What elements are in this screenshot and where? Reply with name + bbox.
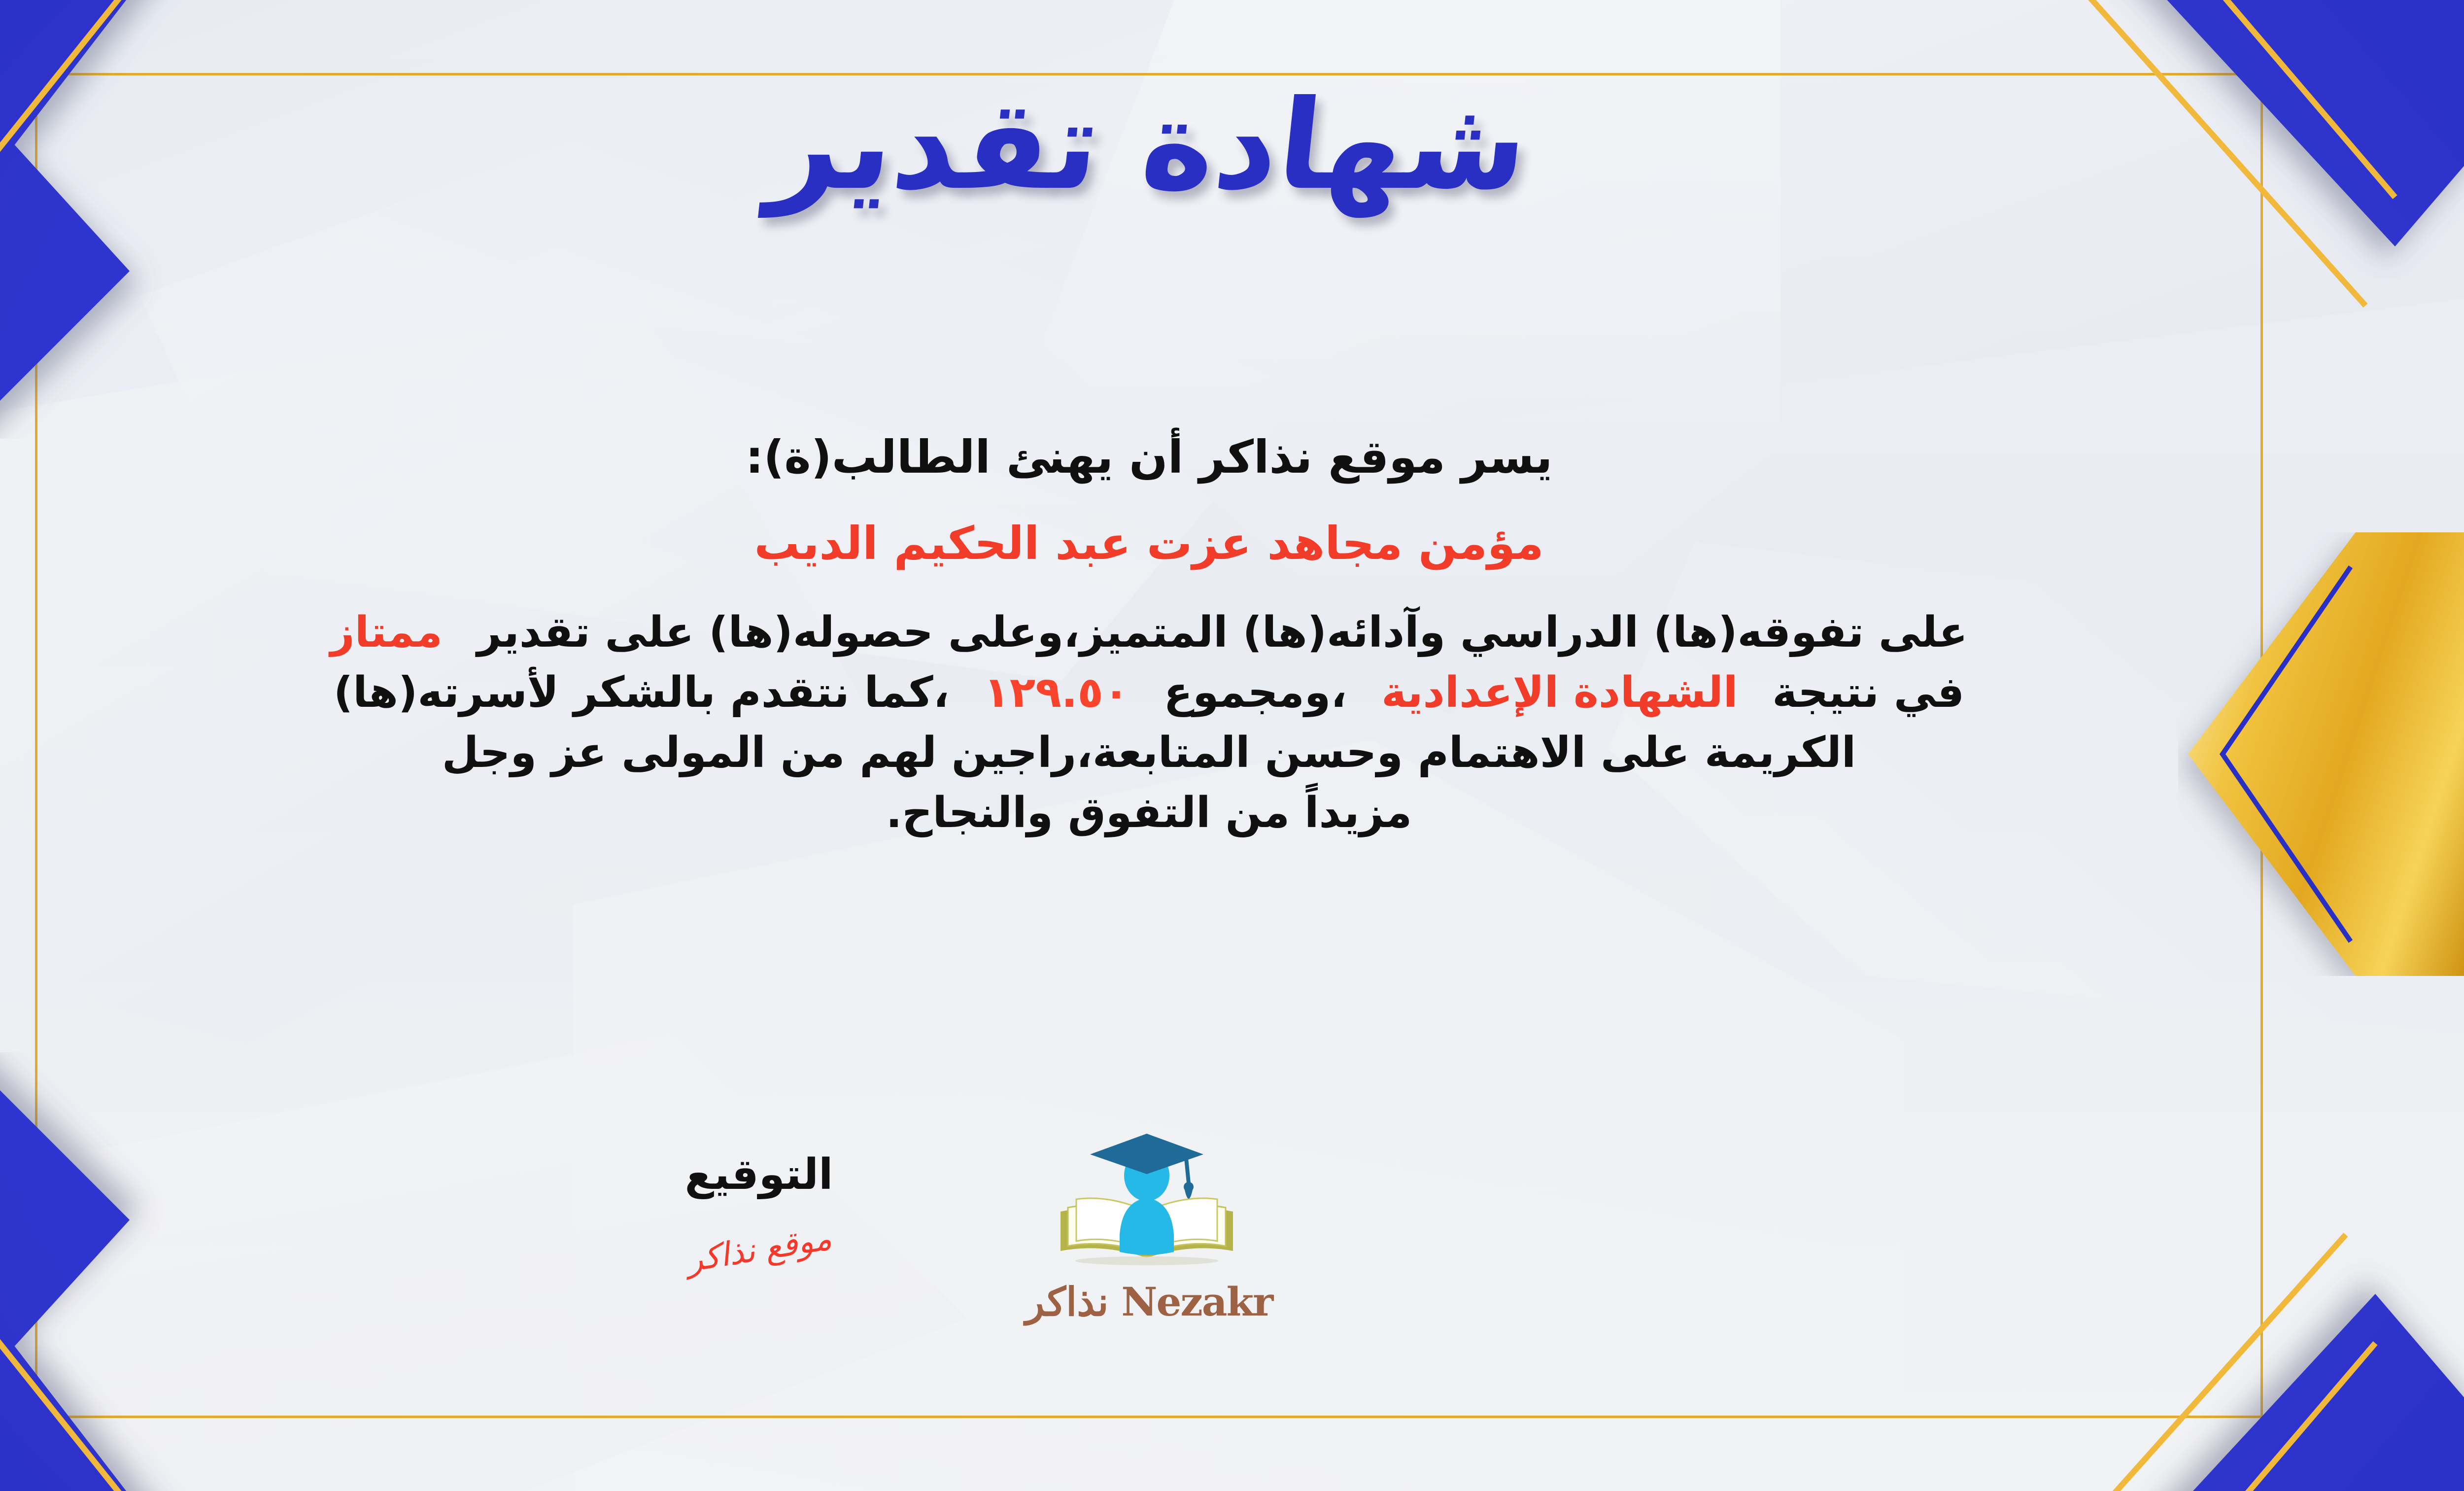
achievement-line-3: الكريمة على الاهتمام وحسن المتابعة،راجين… [41, 723, 2257, 783]
total-prefix: ،ومجموع [1164, 668, 1347, 717]
certificate-title: شهادة تقدير [0, 84, 2464, 207]
student-name: مؤمن مجاهد عزت عبد الحكيم الديب [41, 515, 2257, 572]
thanks-text: ،كما نتقدم بالشكر لأسرته(ها) [334, 668, 949, 717]
signature-label: التوقيع [606, 1153, 912, 1196]
achievement-line-2: في نتيجةالشهادة الإعدادية،ومجموع١٢٩.٥٠،ك… [41, 662, 2257, 723]
certificate-body: يسر موقع نذاكر أن يهنئ الطالب(ة): مؤمن م… [41, 429, 2257, 843]
nezakr-logo: Nezakr نذاكر [996, 1129, 1302, 1325]
achievement-text-1: على تفوقه(ها) الدراسي وآدائه(ها) المتميز… [477, 608, 1968, 657]
greeting-line: يسر موقع نذاكر أن يهنئ الطالب(ة): [41, 429, 2257, 485]
certificate-content: شهادة تقدير يسر موقع نذاكر أن يهنئ الطال… [0, 0, 2464, 1491]
graduate-book-icon [1046, 1129, 1253, 1277]
signature-block: التوقيع موقع نذاكر [606, 1153, 912, 1268]
signature-mark: موقع نذاكر [684, 1219, 834, 1279]
certificate-page: شهادة تقدير يسر موقع نذاكر أن يهنئ الطال… [0, 0, 2464, 1491]
logo-wordmark: Nezakr نذاكر [996, 1279, 1302, 1325]
exam-name: الشهادة الإعدادية [1381, 668, 1738, 717]
result-prefix: في نتيجة [1772, 668, 1964, 717]
achievement-line-1: على تفوقه(ها) الدراسي وآدائه(ها) المتميز… [41, 602, 2257, 662]
grade-value: ممتاز [330, 608, 443, 657]
achievement-line-4: مزيداً من التفوق والنجاح. [41, 783, 2257, 843]
score-value: ١٢٩.٥٠ [984, 668, 1129, 717]
certificate-footer: التوقيع موقع نذاكر [46, 1129, 2252, 1405]
